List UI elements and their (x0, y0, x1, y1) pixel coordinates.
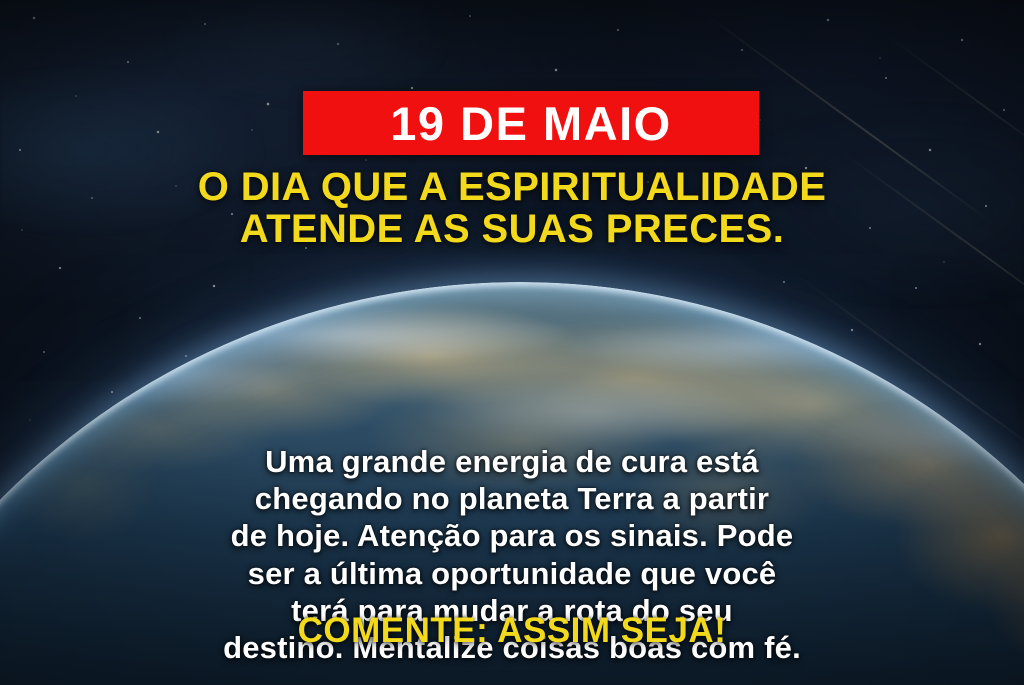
date-badge-label: 19 DE MAIO (390, 100, 671, 147)
poster-content: 19 DE MAIO O DIA QUE A ESPIRITUALIDADE A… (0, 0, 1024, 685)
headline-line-1: O DIA QUE A ESPIRITUALIDADE (0, 166, 1024, 208)
headline: O DIA QUE A ESPIRITUALIDADE ATENDE AS SU… (0, 166, 1024, 250)
date-badge: 19 DE MAIO (303, 91, 759, 155)
body-line-3: de hoje. Atenção para os sinais. Pode (50, 517, 974, 554)
headline-line-2: ATENDE AS SUAS PRECES. (0, 208, 1024, 250)
call-to-action: COMENTE: ASSIM SEJA! (0, 612, 1024, 651)
body-line-2: chegando no planeta Terra a partir (50, 480, 974, 517)
body-line-1: Uma grande energia de cura está (50, 443, 974, 480)
body-line-4: ser a última oportunidade que você (50, 555, 974, 592)
poster-canvas: 19 DE MAIO O DIA QUE A ESPIRITUALIDADE A… (0, 0, 1024, 685)
cta-label: COMENTE: ASSIM SEJA! (298, 611, 727, 650)
